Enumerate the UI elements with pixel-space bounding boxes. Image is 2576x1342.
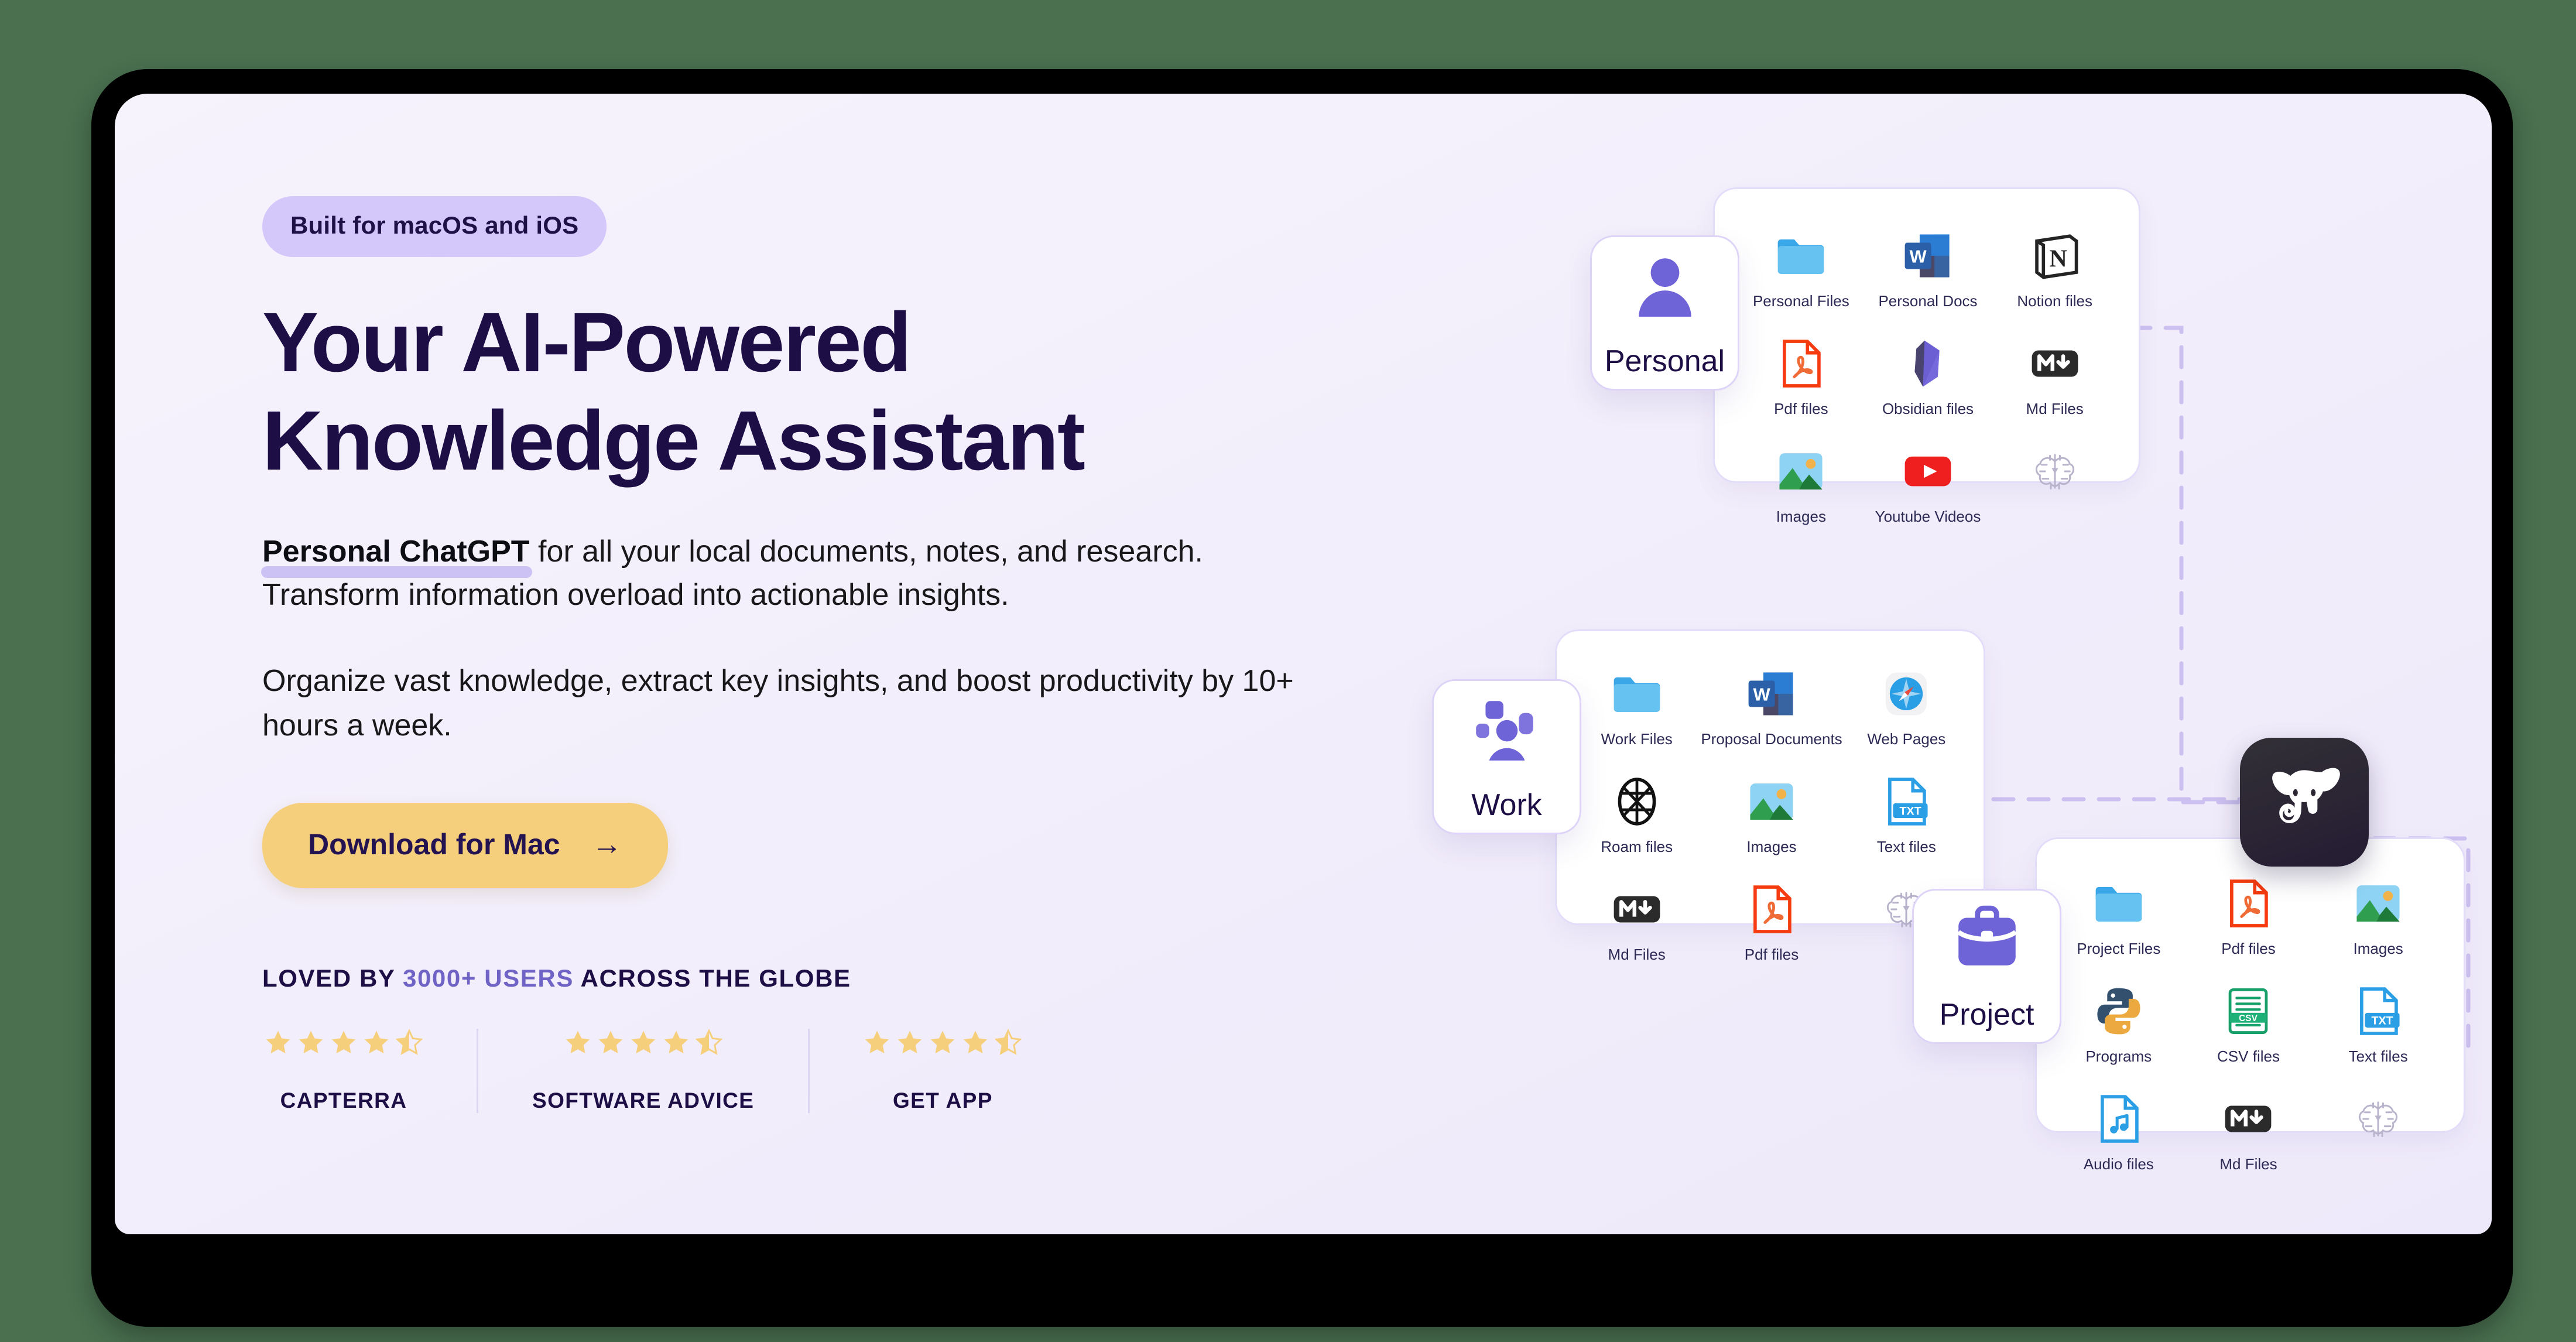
group-label-text: Project xyxy=(1940,997,2034,1032)
word-doc-icon: W xyxy=(1745,667,1798,720)
source-item-caption: Obsidian files xyxy=(1882,400,1974,418)
source-item-caption: Notion files xyxy=(2017,293,2092,310)
source-item-notion[interactable]: NNotion files xyxy=(1991,230,2118,310)
ratings-row: CAPTERRA SOFTWARE ADVICE GET APP xyxy=(262,1029,1398,1113)
obsidian-icon xyxy=(1902,337,1954,390)
image-icon xyxy=(1745,775,1798,828)
word-doc-icon: W xyxy=(1902,230,1954,282)
loved-prefix: LOVED BY xyxy=(262,964,403,992)
social-proof-text: LOVED BY 3000+ USERS ACROSS THE GLOBE xyxy=(262,964,1398,992)
hero-paragraph: Organize vast knowledge, extract key ins… xyxy=(262,659,1363,748)
pdf-icon xyxy=(1775,337,1827,390)
pdf-icon xyxy=(2222,877,2274,930)
folder-icon xyxy=(1775,230,1827,282)
star-icon xyxy=(330,1029,357,1056)
platform-badge: Built for macOS and iOS xyxy=(262,196,607,257)
loved-suffix: ACROSS THE GLOBE xyxy=(574,964,851,992)
source-item-audio[interactable]: Audio files xyxy=(2054,1093,2184,1173)
source-item-brain-circuit[interactable] xyxy=(1991,445,2118,526)
source-item-youtube[interactable]: Youtube Videos xyxy=(1865,445,1992,526)
audio-icon xyxy=(2092,1093,2145,1145)
source-item-txt[interactable]: TXTText files xyxy=(1842,775,1971,856)
source-item-image[interactable]: Images xyxy=(1738,445,1865,526)
source-item-caption: Pdf files xyxy=(2221,940,2276,958)
app-brand-logo xyxy=(2240,738,2369,867)
source-item-pdf[interactable]: Pdf files xyxy=(2184,877,2314,958)
rating-source-label: CAPTERRA xyxy=(280,1088,407,1113)
rating-cell-capterra[interactable]: CAPTERRA xyxy=(262,1029,477,1113)
source-item-folder[interactable]: Project Files xyxy=(2054,877,2184,958)
pdf-icon xyxy=(1745,883,1798,936)
svg-text:TXT: TXT xyxy=(2372,1014,2393,1027)
source-item-word-doc[interactable]: WProposal Documents xyxy=(1701,667,1842,748)
markdown-icon xyxy=(2029,337,2081,390)
source-item-caption: CSV files xyxy=(2217,1048,2280,1066)
rating-cell-get-app[interactable]: GET APP xyxy=(808,1029,1075,1113)
star-rating xyxy=(265,1029,423,1056)
star-icon xyxy=(265,1029,292,1056)
source-item-csv[interactable]: CSVCSV files xyxy=(2184,985,2314,1066)
rating-source-label: GET APP xyxy=(893,1088,993,1113)
source-item-caption: Md Files xyxy=(2219,1156,2277,1173)
youtube-icon xyxy=(1902,445,1954,498)
markdown-icon xyxy=(2222,1093,2274,1145)
source-item-image[interactable]: Images xyxy=(1701,775,1842,856)
star-half-icon xyxy=(396,1029,423,1056)
source-item-caption: Pdf files xyxy=(1745,946,1799,964)
source-item-image[interactable]: Images xyxy=(2313,877,2443,958)
source-item-caption: Proposal Documents xyxy=(1701,731,1842,748)
user-count: 3000+ USERS xyxy=(403,964,574,992)
download-for-mac-button[interactable]: Download for Mac → xyxy=(262,803,668,888)
source-item-python[interactable]: Programs xyxy=(2054,985,2184,1066)
star-icon xyxy=(896,1029,923,1056)
star-rating xyxy=(864,1029,1022,1056)
source-item-markdown[interactable]: Md Files xyxy=(1991,337,2118,418)
page-title: Your AI-Powered Knowledge Assistant xyxy=(262,293,1398,491)
folder-icon xyxy=(2092,877,2145,930)
arrow-right-icon: → xyxy=(592,829,622,860)
image-icon xyxy=(1775,445,1827,498)
group-label-text: Personal xyxy=(1605,344,1725,379)
highlighted-term: Personal ChatGPT xyxy=(262,535,530,569)
star-icon xyxy=(297,1029,324,1056)
star-icon xyxy=(929,1029,956,1056)
headline-line-2: Knowledge Assistant xyxy=(262,393,1084,488)
source-item-caption: Personal Files xyxy=(1753,293,1849,310)
elephant-logo-icon xyxy=(2260,758,2349,847)
svg-text:W: W xyxy=(1753,684,1771,704)
source-icon-grid-personal: Personal FilesWPersonal DocsNNotion file… xyxy=(1738,230,2118,526)
group-label-text: Work xyxy=(1471,788,1542,823)
source-item-folder[interactable]: Work Files xyxy=(1573,667,1701,748)
star-icon xyxy=(630,1029,657,1056)
txt-icon: TXT xyxy=(2352,985,2404,1038)
source-item-caption: Web Pages xyxy=(1867,731,1945,748)
brain-circuit-icon xyxy=(2352,1093,2404,1145)
headline-line-1: Your AI-Powered xyxy=(262,295,910,389)
source-item-obsidian[interactable]: Obsidian files xyxy=(1865,337,1992,418)
hero-content: Built for macOS and iOS Your AI-Powered … xyxy=(262,196,1398,1113)
star-icon xyxy=(962,1029,989,1056)
knowledge-graph-illustration: Personal FilesWPersonal DocsNNotion file… xyxy=(1379,187,2492,1234)
subtitle-line-1: Personal ChatGPT for all your local docu… xyxy=(262,530,1398,574)
source-item-caption: Text files xyxy=(2349,1048,2408,1066)
markdown-icon xyxy=(1611,883,1663,936)
source-item-caption: Images xyxy=(1746,838,1796,856)
notion-icon: N xyxy=(2029,230,2081,282)
star-rating xyxy=(564,1029,722,1056)
folder-icon xyxy=(1611,667,1663,720)
svg-text:TXT: TXT xyxy=(1900,804,1921,817)
source-item-caption: Images xyxy=(1776,508,1826,526)
python-icon xyxy=(2092,985,2145,1038)
source-item-brain-circuit[interactable] xyxy=(2313,1093,2443,1173)
roam-icon xyxy=(1611,775,1663,828)
briefcase-icon xyxy=(1949,901,2025,977)
source-item-caption: Roam files xyxy=(1601,838,1673,856)
device-screen: Built for macOS and iOS Your AI-Powered … xyxy=(115,94,2492,1234)
image-icon xyxy=(2352,877,2404,930)
person-icon xyxy=(1627,248,1703,324)
star-half-icon xyxy=(696,1029,722,1056)
rating-source-label: SOFTWARE ADVICE xyxy=(532,1088,754,1113)
source-item-word-doc[interactable]: WPersonal Docs xyxy=(1865,230,1992,310)
source-icon-grid-work: Work FilesWProposal DocumentsWeb PagesRo… xyxy=(1573,667,1971,964)
source-item-caption: Md Files xyxy=(1608,946,1666,964)
source-item-caption: Md Files xyxy=(2026,400,2084,418)
hero-subtitle: Personal ChatGPT for all your local docu… xyxy=(262,530,1398,617)
star-half-icon xyxy=(995,1029,1022,1056)
star-icon xyxy=(864,1029,890,1056)
star-icon xyxy=(363,1029,390,1056)
star-icon xyxy=(597,1029,624,1056)
txt-icon: TXT xyxy=(1880,775,1933,828)
source-item-txt[interactable]: TXTText files xyxy=(2313,985,2443,1066)
rating-cell-software-advice[interactable]: SOFTWARE ADVICE xyxy=(477,1029,808,1113)
screenshot-root: Built for macOS and iOS Your AI-Powered … xyxy=(0,0,2576,1342)
star-icon xyxy=(663,1029,690,1056)
source-item-caption: Work Files xyxy=(1601,731,1673,748)
star-icon xyxy=(564,1029,591,1056)
source-item-caption: Programs xyxy=(2085,1048,2152,1066)
source-item-caption: Youtube Videos xyxy=(1875,508,1981,526)
group-label-card-work[interactable]: Work xyxy=(1432,679,1581,834)
subtitle-line-2: Transform information overload into acti… xyxy=(262,574,1398,617)
source-item-caption: Personal Docs xyxy=(1878,293,1977,310)
source-item-safari[interactable]: Web Pages xyxy=(1842,667,1971,748)
people-group-icon xyxy=(1469,691,1545,768)
source-item-caption: Pdf files xyxy=(1774,400,1828,418)
brain-circuit-icon xyxy=(2029,445,2081,498)
source-item-markdown[interactable]: Md Files xyxy=(2184,1093,2314,1173)
source-item-roam[interactable]: Roam files xyxy=(1573,775,1701,856)
group-label-card-project[interactable]: Project xyxy=(1912,889,2061,1044)
source-item-markdown[interactable]: Md Files xyxy=(1573,883,1701,964)
source-item-pdf[interactable]: Pdf files xyxy=(1701,883,1842,964)
source-item-caption: Audio files xyxy=(2084,1156,2154,1173)
source-item-folder[interactable]: Personal Files xyxy=(1738,230,1865,310)
svg-text:CSV: CSV xyxy=(2239,1014,2258,1023)
source-item-caption: Project Files xyxy=(2077,940,2160,958)
group-label-card-personal[interactable]: Personal xyxy=(1590,235,1739,391)
safari-icon xyxy=(1880,667,1933,720)
source-icon-grid-project: Project FilesPdf filesImagesProgramsCSVC… xyxy=(2054,877,2443,1173)
source-item-caption: Images xyxy=(2354,940,2403,958)
subtitle-rest: for all your local documents, notes, and… xyxy=(530,535,1203,569)
svg-text:N: N xyxy=(2049,245,2067,272)
source-item-pdf[interactable]: Pdf files xyxy=(1738,337,1865,418)
svg-text:W: W xyxy=(1910,246,1927,266)
csv-icon: CSV xyxy=(2222,985,2274,1038)
download-button-label: Download for Mac xyxy=(308,827,560,861)
source-item-caption: Text files xyxy=(1877,838,1936,856)
